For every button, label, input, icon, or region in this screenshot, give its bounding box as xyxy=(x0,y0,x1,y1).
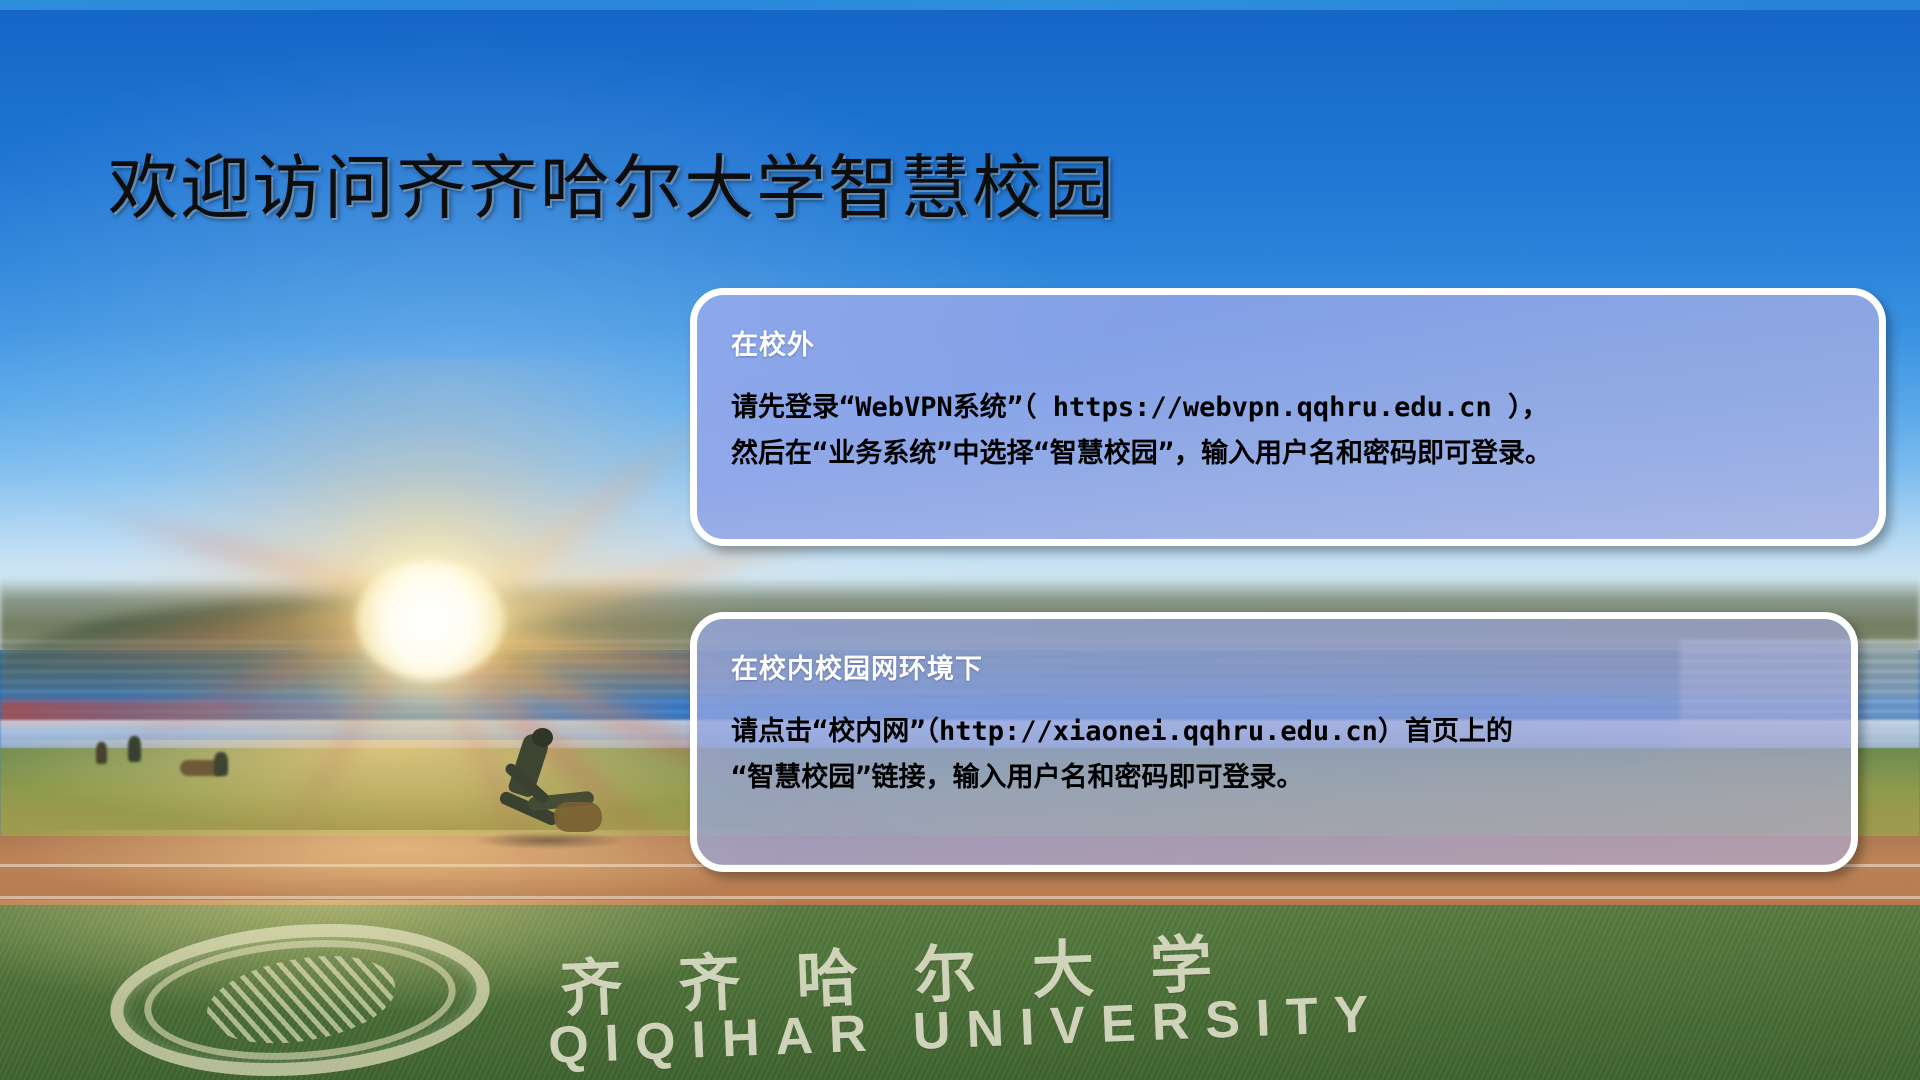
athlete-shadow xyxy=(474,832,624,849)
callout-line: 请先登录“WebVPN系统”（ https://webvpn.qqhru.edu… xyxy=(731,388,1845,428)
callout-line: “智慧校园”链接，输入用户名和密码即可登录。 xyxy=(731,758,1817,798)
callout-off-campus: 在校外 请先登录“WebVPN系统”（ https://webvpn.qqhru… xyxy=(690,288,1886,546)
sun-disc xyxy=(355,560,505,680)
athlete-gear-bag xyxy=(554,802,602,832)
turf-emblem-icon xyxy=(105,912,495,1080)
distant-person xyxy=(128,736,141,762)
callout-line: 请点击“校内网”（http://xiaonei.qqhru.edu.cn）首页上… xyxy=(731,712,1817,752)
callout-on-campus: 在校内校园网环境下 请点击“校内网”（http://xiaonei.qqhru.… xyxy=(690,612,1858,872)
athlete-silhouette xyxy=(492,728,612,853)
distant-person xyxy=(214,752,228,776)
slide-canvas: 齐齐哈尔大学 QIQIHAR UNIVERSITY 欢迎访问齐齐哈尔大学智慧校园… xyxy=(0,0,1920,1080)
sky-top-strip xyxy=(0,0,1920,10)
callout-heading-on-campus: 在校内校园网环境下 xyxy=(731,647,1817,686)
distant-person xyxy=(96,742,107,764)
callout-heading-off-campus: 在校外 xyxy=(731,323,1845,362)
page-title: 欢迎访问齐齐哈尔大学智慧校园 xyxy=(108,132,1116,233)
callout-line: 然后在“业务系统”中选择“智慧校园”，输入用户名和密码即可登录。 xyxy=(731,434,1845,474)
athlete-head xyxy=(532,728,553,747)
